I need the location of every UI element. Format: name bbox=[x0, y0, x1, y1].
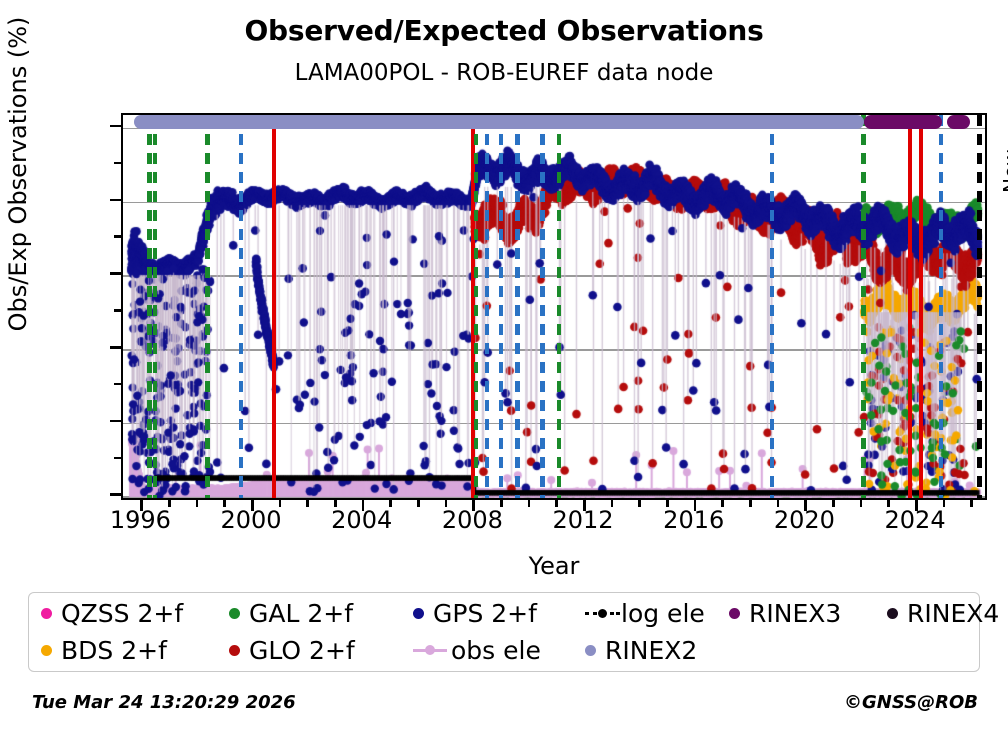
legend-marker-dotted-line-icon bbox=[585, 607, 619, 619]
y-axis-tick bbox=[110, 346, 121, 349]
legend-item-label: RINEX3 bbox=[749, 599, 841, 628]
legend-row: BDS 2+fGLO 2+fobs eleRINEX2 bbox=[29, 632, 979, 668]
legend-item-rinex4[interactable]: RINEX4 bbox=[887, 595, 999, 631]
legend-marker-dot-icon bbox=[41, 608, 52, 619]
x-axis-tick-label: 2024 bbox=[855, 506, 975, 534]
page-title: Observed/Expected Observations bbox=[0, 14, 1008, 47]
legend-item-gal-2-f[interactable]: GAL 2+f bbox=[229, 595, 353, 631]
rinex-version-bars bbox=[123, 115, 985, 498]
y-axis-minor-tick bbox=[114, 457, 121, 460]
x-axis-minor-tick bbox=[389, 500, 392, 507]
legend-item-label: BDS 2+f bbox=[61, 636, 167, 665]
page-subtitle: LAMA00POL - ROB-EUREF data node bbox=[0, 60, 1008, 86]
y-axis-minor-tick bbox=[114, 235, 121, 238]
legend-marker-dot-icon bbox=[585, 645, 596, 656]
legend-marker-dot-icon bbox=[413, 608, 424, 619]
y-axis-tick bbox=[110, 272, 121, 275]
legend-marker-dot-icon bbox=[229, 608, 240, 619]
x-axis-tick-label: 2016 bbox=[634, 506, 754, 534]
x-axis-tick-label: 1996 bbox=[80, 506, 200, 534]
x-axis-minor-tick bbox=[970, 500, 973, 507]
now-marker-label: Now bbox=[999, 149, 1008, 193]
x-axis-tick-label: 2012 bbox=[523, 506, 643, 534]
legend-marker-dot-icon bbox=[41, 645, 52, 656]
legend-item-label: GPS 2+f bbox=[433, 599, 537, 628]
legend-item-obs-ele[interactable]: obs ele bbox=[413, 632, 541, 668]
legend-marker-dot-icon bbox=[229, 645, 240, 656]
x-axis-tick-label: 2008 bbox=[412, 506, 532, 534]
legend-item-label: GLO 2+f bbox=[249, 636, 355, 665]
legend-item-rinex2[interactable]: RINEX2 bbox=[585, 632, 697, 668]
rinex-version-bar bbox=[947, 115, 969, 129]
legend-item-label: QZSS 2+f bbox=[61, 599, 183, 628]
y-axis-minor-tick bbox=[114, 309, 121, 312]
x-axis-minor-tick bbox=[500, 500, 503, 507]
legend-item-label: RINEX2 bbox=[605, 636, 697, 665]
y-axis-minor-tick bbox=[114, 162, 121, 165]
x-axis-minor-tick bbox=[611, 500, 614, 507]
x-axis-minor-tick bbox=[721, 500, 724, 507]
x-axis-minor-tick bbox=[279, 500, 282, 507]
legend-item-label: RINEX4 bbox=[907, 599, 999, 628]
y-axis-tick bbox=[110, 493, 121, 496]
legend-item-bds-2-f[interactable]: BDS 2+f bbox=[41, 632, 167, 668]
y-axis-tick bbox=[110, 420, 121, 423]
x-axis-label: Year bbox=[121, 552, 987, 580]
legend-item-rinex3[interactable]: RINEX3 bbox=[729, 595, 841, 631]
x-axis-minor-tick bbox=[168, 500, 171, 507]
legend-item-label: GAL 2+f bbox=[249, 599, 353, 628]
x-axis-tick-label: 2020 bbox=[744, 506, 864, 534]
legend-item-label: obs ele bbox=[451, 636, 541, 665]
legend-marker-dot-icon bbox=[729, 608, 740, 619]
legend-item-gps-2-f[interactable]: GPS 2+f bbox=[413, 595, 537, 631]
legend-item-glo-2-f[interactable]: GLO 2+f bbox=[229, 632, 355, 668]
y-axis-label: Obs/Exp Observations (%) bbox=[4, 0, 32, 374]
rinex-version-bar bbox=[864, 115, 941, 129]
legend-item-qzss-2-f[interactable]: QZSS 2+f bbox=[41, 595, 183, 631]
footer-credit: ©GNSS@ROB bbox=[844, 692, 978, 713]
y-axis-tick bbox=[110, 199, 121, 202]
legend-marker-dot-icon bbox=[887, 608, 898, 619]
footer-timestamp: Tue Mar 24 13:20:29 2026 bbox=[32, 692, 296, 713]
x-axis-tick-label: 2000 bbox=[191, 506, 311, 534]
x-axis-minor-tick bbox=[832, 500, 835, 507]
x-axis-tick-label: 2004 bbox=[302, 506, 422, 534]
y-axis-minor-tick bbox=[114, 383, 121, 386]
legend-item-label: log ele bbox=[621, 599, 705, 628]
legend-row: QZSS 2+fGAL 2+fGPS 2+flog eleRINEX3RINEX… bbox=[29, 595, 979, 631]
legend-marker-line-icon bbox=[413, 644, 447, 656]
legend-item-log-ele[interactable]: log ele bbox=[585, 595, 705, 631]
legend: QZSS 2+fGAL 2+fGPS 2+flog eleRINEX3RINEX… bbox=[28, 592, 980, 672]
rinex-version-bar bbox=[134, 115, 864, 129]
chart-page: Observed/Expected Observations LAMA00POL… bbox=[0, 0, 1008, 734]
x-axis-minor-tick bbox=[943, 500, 946, 507]
y-axis-tick bbox=[110, 125, 121, 128]
plot-area bbox=[121, 113, 987, 500]
